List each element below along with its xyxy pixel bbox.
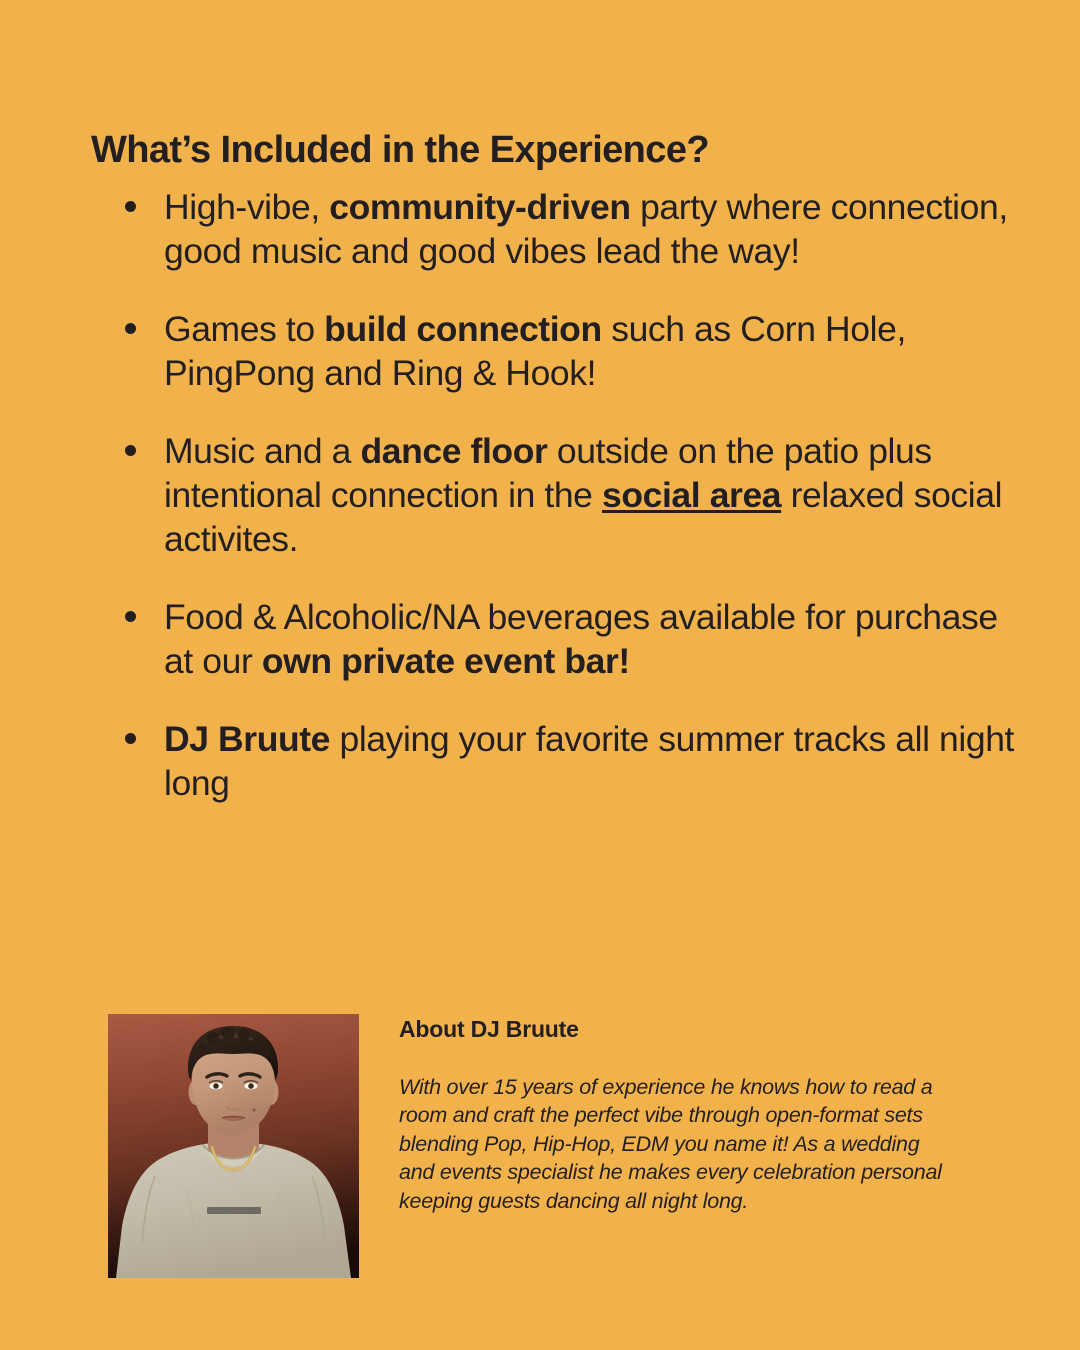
included-bullet-list: High-vibe, community-driven party where … [118, 185, 1018, 805]
about-dj-section: About DJ Bruute With over 15 years of ex… [108, 1014, 1008, 1278]
bullet-dot-icon [125, 445, 136, 456]
list-item: DJ Bruute playing your favorite summer t… [118, 717, 1018, 805]
list-item: Games to build connection such as Corn H… [118, 307, 1018, 395]
bullet-dot-icon [125, 201, 136, 212]
flyer-page: What’s Included in the Experience? High-… [0, 0, 1080, 1350]
about-copy: About DJ Bruute With over 15 years of ex… [399, 1014, 1008, 1215]
list-item-text: Food & Alcoholic/NA beverages available … [164, 597, 998, 681]
list-item: Music and a dance floor outside on the p… [118, 429, 1018, 561]
list-item: Food & Alcoholic/NA beverages available … [118, 595, 1018, 683]
list-item-text: Music and a dance floor outside on the p… [164, 431, 1002, 559]
list-item-text: Games to build connection such as Corn H… [164, 309, 906, 393]
page-title: What’s Included in the Experience? [91, 130, 709, 172]
about-heading: About DJ Bruute [399, 1016, 1008, 1043]
bullet-dot-icon [125, 611, 136, 622]
list-item-text: DJ Bruute playing your favorite summer t… [164, 719, 1014, 803]
list-item-text: High-vibe, community-driven party where … [164, 187, 1008, 271]
dj-portrait-photo [108, 1014, 359, 1278]
list-item: High-vibe, community-driven party where … [118, 185, 1018, 273]
bullet-dot-icon [125, 733, 136, 744]
bullet-dot-icon [125, 323, 136, 334]
about-bio-text: With over 15 years of experience he know… [399, 1073, 944, 1215]
